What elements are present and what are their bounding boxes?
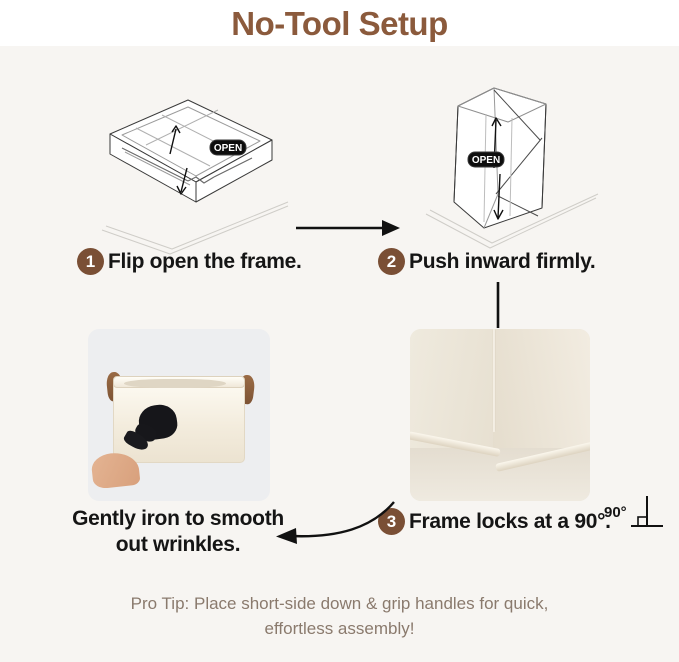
step-2-badge: 2 [378,248,405,275]
instruction-canvas: OPEN [0,46,679,662]
page-title: No-Tool Setup [231,7,448,40]
open-badge-step1: OPEN [210,140,246,155]
right-angle-icon [629,494,663,530]
basket-body [113,381,244,464]
pro-tip: Pro Tip: Place short-side down & grip ha… [0,592,679,641]
step-3-text: Frame locks at a 90°. [409,510,611,534]
open-badge-step2: OPEN [468,152,504,167]
svg-text:OPEN: OPEN [214,143,242,154]
iron-basket-photo [88,329,270,501]
header-band: No-Tool Setup [0,0,679,46]
final-caption-line-1: Gently iron to smooth [28,506,328,532]
step-1-caption: 1 Flip open the frame. [77,248,302,275]
final-step-caption: Gently iron to smooth out wrinkles. [28,506,328,557]
final-caption-line-2: out wrinkles. [28,532,328,558]
angle-marker: 90° [604,494,663,530]
step-1-illustration: OPEN [92,82,292,262]
basket-opening [124,379,226,388]
arrow-step1-to-step2 [296,218,400,238]
pro-tip-line-2: effortless assembly! [0,617,679,642]
arrow-step2-to-step3 [492,282,504,328]
step-1-text: Flip open the frame. [108,250,302,274]
step-2-illustration: OPEN [420,76,610,266]
svg-text:OPEN: OPEN [472,155,500,166]
corner-seam-vertical [492,329,496,432]
basket-corner-photo [410,329,590,501]
pro-tip-line-1: Pro Tip: Place short-side down & grip ha… [0,592,679,617]
step-2-text: Push inward firmly. [409,250,595,274]
step-2-caption: 2 Push inward firmly. [378,248,595,275]
step-3-caption: 3 Frame locks at a 90°. [378,508,611,535]
basket-wall-right [493,329,590,453]
step-1-badge: 1 [77,248,104,275]
